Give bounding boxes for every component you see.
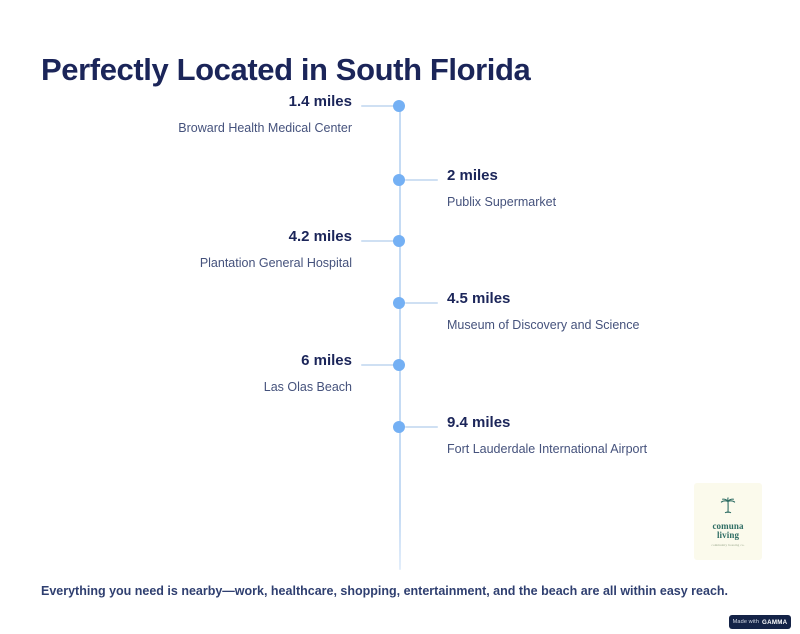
timeline-distance: 2 miles (447, 166, 556, 186)
timeline-connector (405, 302, 438, 304)
timeline-dot-icon (393, 174, 405, 186)
made-with-gamma-badge[interactable]: Made with GAMMA (729, 615, 791, 629)
timeline-dot-icon (393, 359, 405, 371)
timeline-place: Las Olas Beach (264, 379, 352, 396)
footer-summary-text: Everything you need is nearby—work, heal… (41, 582, 728, 600)
palm-tree-icon (718, 496, 738, 521)
distance-timeline: 1.4 miles Broward Health Medical Center … (0, 0, 800, 580)
timeline-distance: 4.5 miles (447, 289, 639, 309)
timeline-distance: 6 miles (264, 351, 352, 371)
comuna-living-logo-card: comuna living community housing co. (694, 483, 762, 560)
timeline-connector (405, 426, 438, 428)
timeline-place: Broward Health Medical Center (178, 120, 352, 137)
slide-canvas: Perfectly Located in South Florida 1.4 m… (0, 0, 800, 634)
timeline-item-text: 6 miles Las Olas Beach (264, 351, 352, 396)
timeline-item-text: 4.5 miles Museum of Discovery and Scienc… (447, 289, 639, 334)
badge-brand-label: GAMMA (762, 619, 787, 626)
timeline-dot-icon (393, 297, 405, 309)
timeline-dot-icon (393, 235, 405, 247)
timeline-dot-icon (393, 421, 405, 433)
timeline-distance: 4.2 miles (200, 227, 352, 247)
timeline-place: Publix Supermarket (447, 194, 556, 211)
timeline-place: Plantation General Hospital (200, 255, 352, 272)
timeline-connector (361, 105, 394, 107)
badge-made-with-label: Made with (733, 619, 759, 626)
timeline-item-text: 4.2 miles Plantation General Hospital (200, 227, 352, 272)
timeline-connector (361, 364, 394, 366)
timeline-item-text: 2 miles Publix Supermarket (447, 166, 556, 211)
timeline-connector (405, 179, 438, 181)
logo-tagline: community housing co. (711, 543, 744, 547)
timeline-item-text: 9.4 miles Fort Lauderdale International … (447, 413, 647, 458)
timeline-item-text: 1.4 miles Broward Health Medical Center (178, 92, 352, 137)
timeline-place: Fort Lauderdale International Airport (447, 441, 647, 458)
timeline-connector (361, 240, 394, 242)
logo-name-line2: living (717, 531, 739, 541)
timeline-place: Museum of Discovery and Science (447, 317, 639, 334)
timeline-dot-icon (393, 100, 405, 112)
timeline-distance: 9.4 miles (447, 413, 647, 433)
timeline-distance: 1.4 miles (178, 92, 352, 112)
